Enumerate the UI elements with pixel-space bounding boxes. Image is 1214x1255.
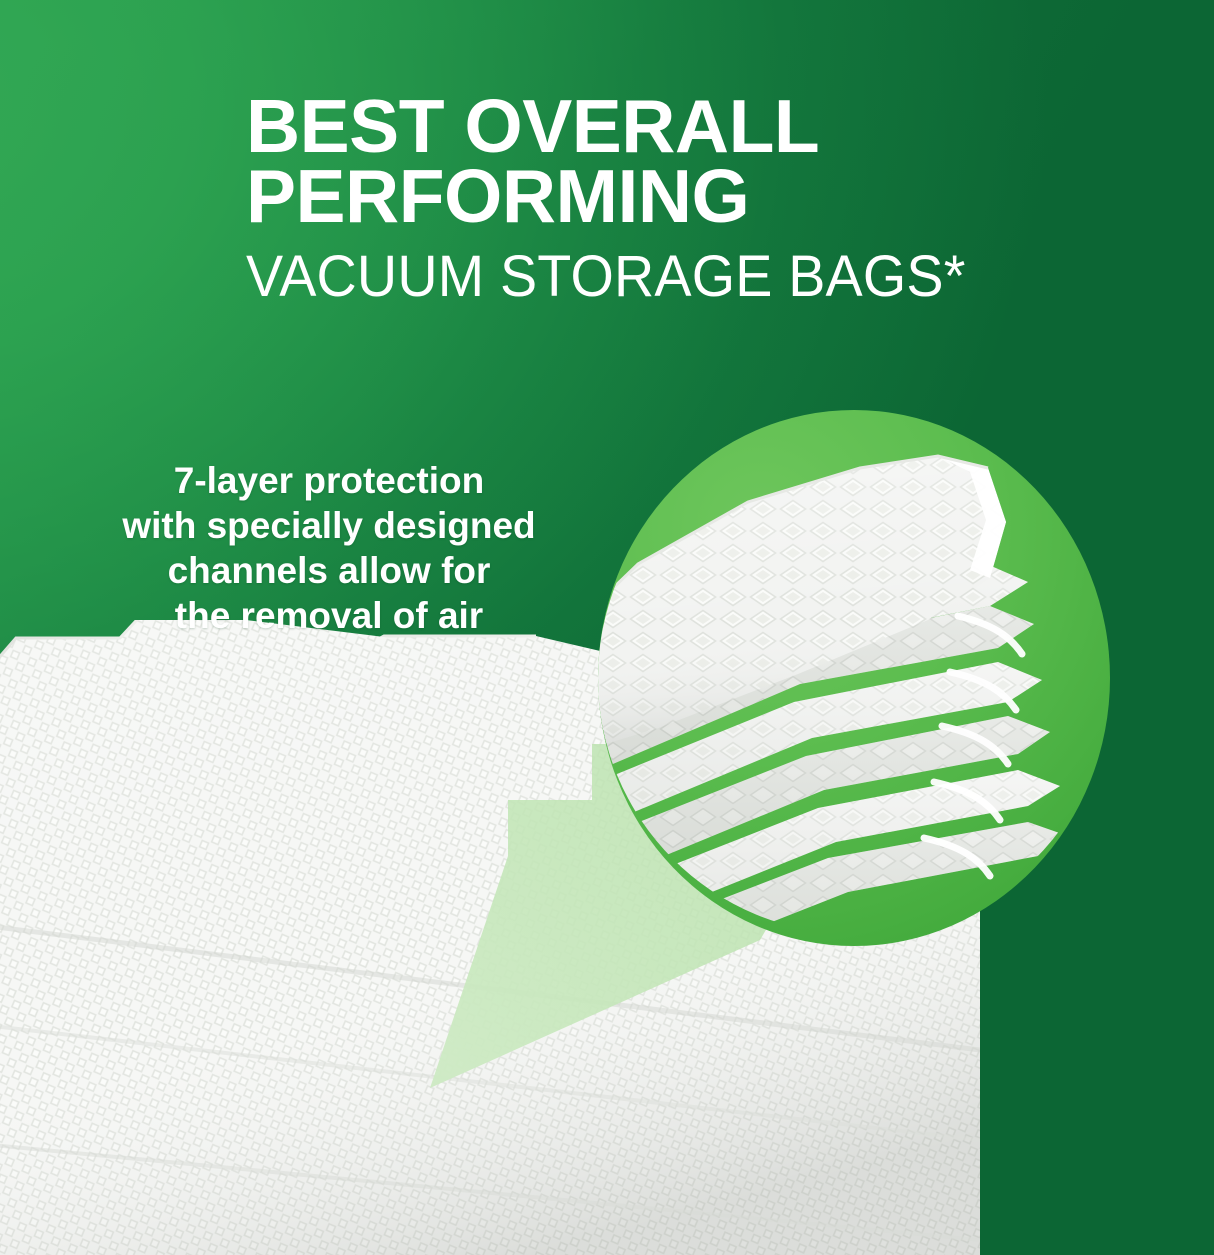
feature-line-1: 7-layer protection xyxy=(64,458,594,503)
headline-line-2: PERFORMING xyxy=(246,162,1006,232)
headline-line-1: BEST OVERALL xyxy=(246,92,1006,162)
layered-material-closeup xyxy=(598,410,1110,946)
banner-root: BEST OVERALL PERFORMING VACUUM STORAGE B… xyxy=(0,0,1214,1255)
headline-subline: VACUUM STORAGE BAGS* xyxy=(246,248,976,306)
bag-corner-shadow xyxy=(0,1250,40,1255)
feature-line-3: channels allow for xyxy=(64,548,594,593)
closeup-illustration xyxy=(598,410,1110,946)
bag-crease-lines xyxy=(0,920,980,1240)
headline-block: BEST OVERALL PERFORMING VACUUM STORAGE B… xyxy=(246,92,1006,306)
feature-line-4: the removal of air xyxy=(64,593,594,638)
feature-line-2: with specially designed xyxy=(64,503,594,548)
feature-description: 7-layer protection with specially design… xyxy=(64,458,594,639)
closeup-circle-background xyxy=(598,410,1110,946)
